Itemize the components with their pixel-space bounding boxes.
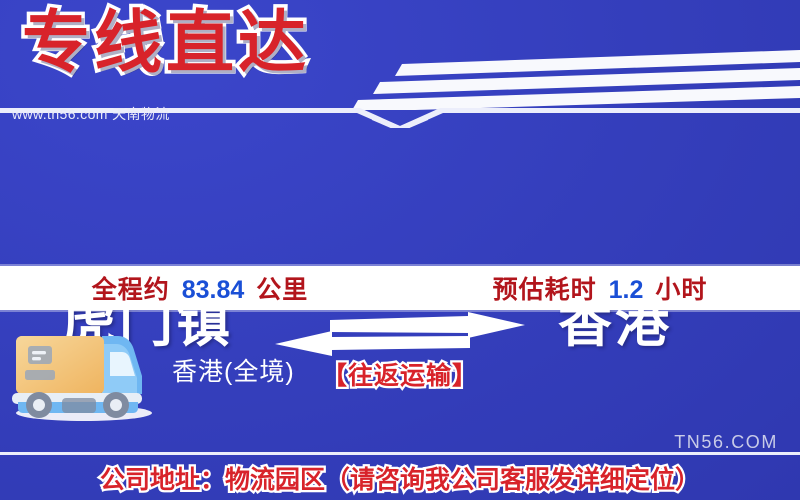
footer-bar: 公司地址：物流园区（请咨询我公司客服发详细定位）	[0, 455, 800, 500]
delivery-truck-icon	[6, 314, 166, 422]
duration-label: 预估耗时	[493, 276, 597, 304]
logistics-route-banner: 专线直达 www.tn56.com 天南物流 虎门镇 香港 （直达不中转） 【往…	[0, 0, 800, 500]
duration-unit: 小时	[655, 276, 707, 304]
coverage-section: 香港(全境) TN56.COM	[0, 312, 800, 430]
distance-label: 全程约	[92, 276, 170, 304]
watermark-label: TN56.COM	[674, 432, 778, 453]
coverage-area-label: 香港(全境)	[172, 352, 295, 388]
site-url-label: www.tn56.com 天南物流	[12, 104, 170, 124]
route-section: 虎门镇 香港 （直达不中转） 【往返运输】	[0, 136, 800, 266]
page-title: 专线直达	[22, 2, 310, 84]
duration-value: 1.2	[605, 276, 648, 304]
duration-stat: 预估耗时 1.2 小时	[400, 270, 800, 306]
distance-stat: 全程约 83.84 公里	[0, 270, 400, 306]
distance-unit: 公里	[256, 276, 308, 304]
stats-band: 全程约 83.84 公里 预估耗时 1.2 小时	[0, 266, 800, 310]
distance-value: 83.84	[178, 276, 249, 304]
company-address-label: 公司地址：物流园区（请咨询我公司客服发详细定位）	[100, 460, 700, 496]
